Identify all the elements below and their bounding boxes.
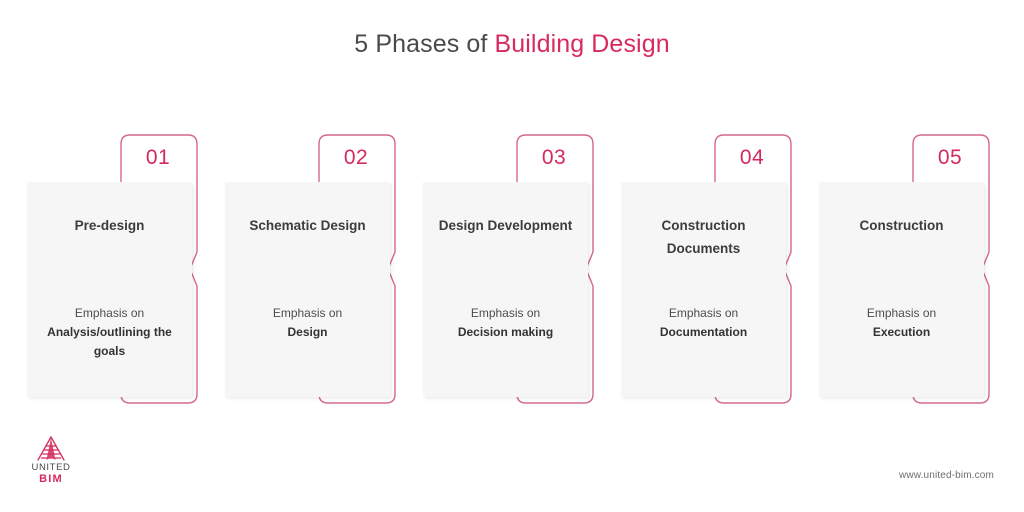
phase-emphasis-value-3: Decision making [428, 323, 583, 342]
phase-emphasis-3: Emphasis on Decision making [423, 304, 588, 342]
phase-content-card-3[interactable]: Design Development Emphasis on Decision … [423, 182, 588, 397]
phase-number-4: 04 [721, 146, 783, 170]
phase-number-1: 01 [127, 146, 189, 170]
phase-emphasis-value-1: Analysis/outlining the goals [32, 323, 187, 361]
phase-card-3[interactable]: 03 Design Development Emphasis on Decisi… [423, 130, 621, 410]
phase-card-4[interactable]: 04 Construction Documents Emphasis on Do… [621, 130, 819, 410]
website-url: www.united-bim.com [899, 470, 994, 481]
phase-emphasis-value-4: Documentation [626, 323, 781, 342]
phase-content-card-2[interactable]: Schematic Design Emphasis on Design [225, 182, 390, 397]
phase-title-4: Construction Documents [621, 214, 786, 260]
phase-list: 01 Pre-design Emphasis on Analysis/outli… [0, 0, 1024, 512]
logo-text-bim: BIM [27, 473, 75, 485]
phase-emphasis-value-5: Execution [824, 323, 979, 342]
phase-content-card-4[interactable]: Construction Documents Emphasis on Docum… [621, 182, 786, 397]
phase-content-card-5[interactable]: Construction Emphasis on Execution [819, 182, 984, 397]
phase-emphasis-4: Emphasis on Documentation [621, 304, 786, 342]
phase-number-3: 03 [523, 146, 585, 170]
united-bim-tower-icon [33, 436, 69, 462]
phase-emphasis-label-5: Emphasis on [867, 306, 936, 320]
phase-number-2: 02 [325, 146, 387, 170]
phase-emphasis-5: Emphasis on Execution [819, 304, 984, 342]
phase-card-2[interactable]: 02 Schematic Design Emphasis on Design [225, 130, 423, 410]
phase-number-5: 05 [919, 146, 981, 170]
phase-emphasis-label-2: Emphasis on [273, 306, 342, 320]
logo-text-united: UNITED [27, 462, 75, 473]
phase-emphasis-label-4: Emphasis on [669, 306, 738, 320]
phase-title-5: Construction [819, 214, 984, 237]
phase-emphasis-1: Emphasis on Analysis/outlining the goals [27, 304, 192, 361]
phase-card-1[interactable]: 01 Pre-design Emphasis on Analysis/outli… [27, 130, 225, 410]
phase-emphasis-2: Emphasis on Design [225, 304, 390, 342]
phase-title-2: Schematic Design [225, 214, 390, 237]
phase-emphasis-label-1: Emphasis on [75, 306, 144, 320]
phase-emphasis-value-2: Design [230, 323, 385, 342]
phase-title-3: Design Development [423, 214, 588, 237]
phase-content-card-1[interactable]: Pre-design Emphasis on Analysis/outlinin… [27, 182, 192, 397]
phase-title-1: Pre-design [27, 214, 192, 237]
phase-card-5[interactable]: 05 Construction Emphasis on Execution [819, 130, 1017, 410]
phase-emphasis-label-3: Emphasis on [471, 306, 540, 320]
united-bim-logo[interactable]: UNITED BIM [27, 436, 75, 484]
